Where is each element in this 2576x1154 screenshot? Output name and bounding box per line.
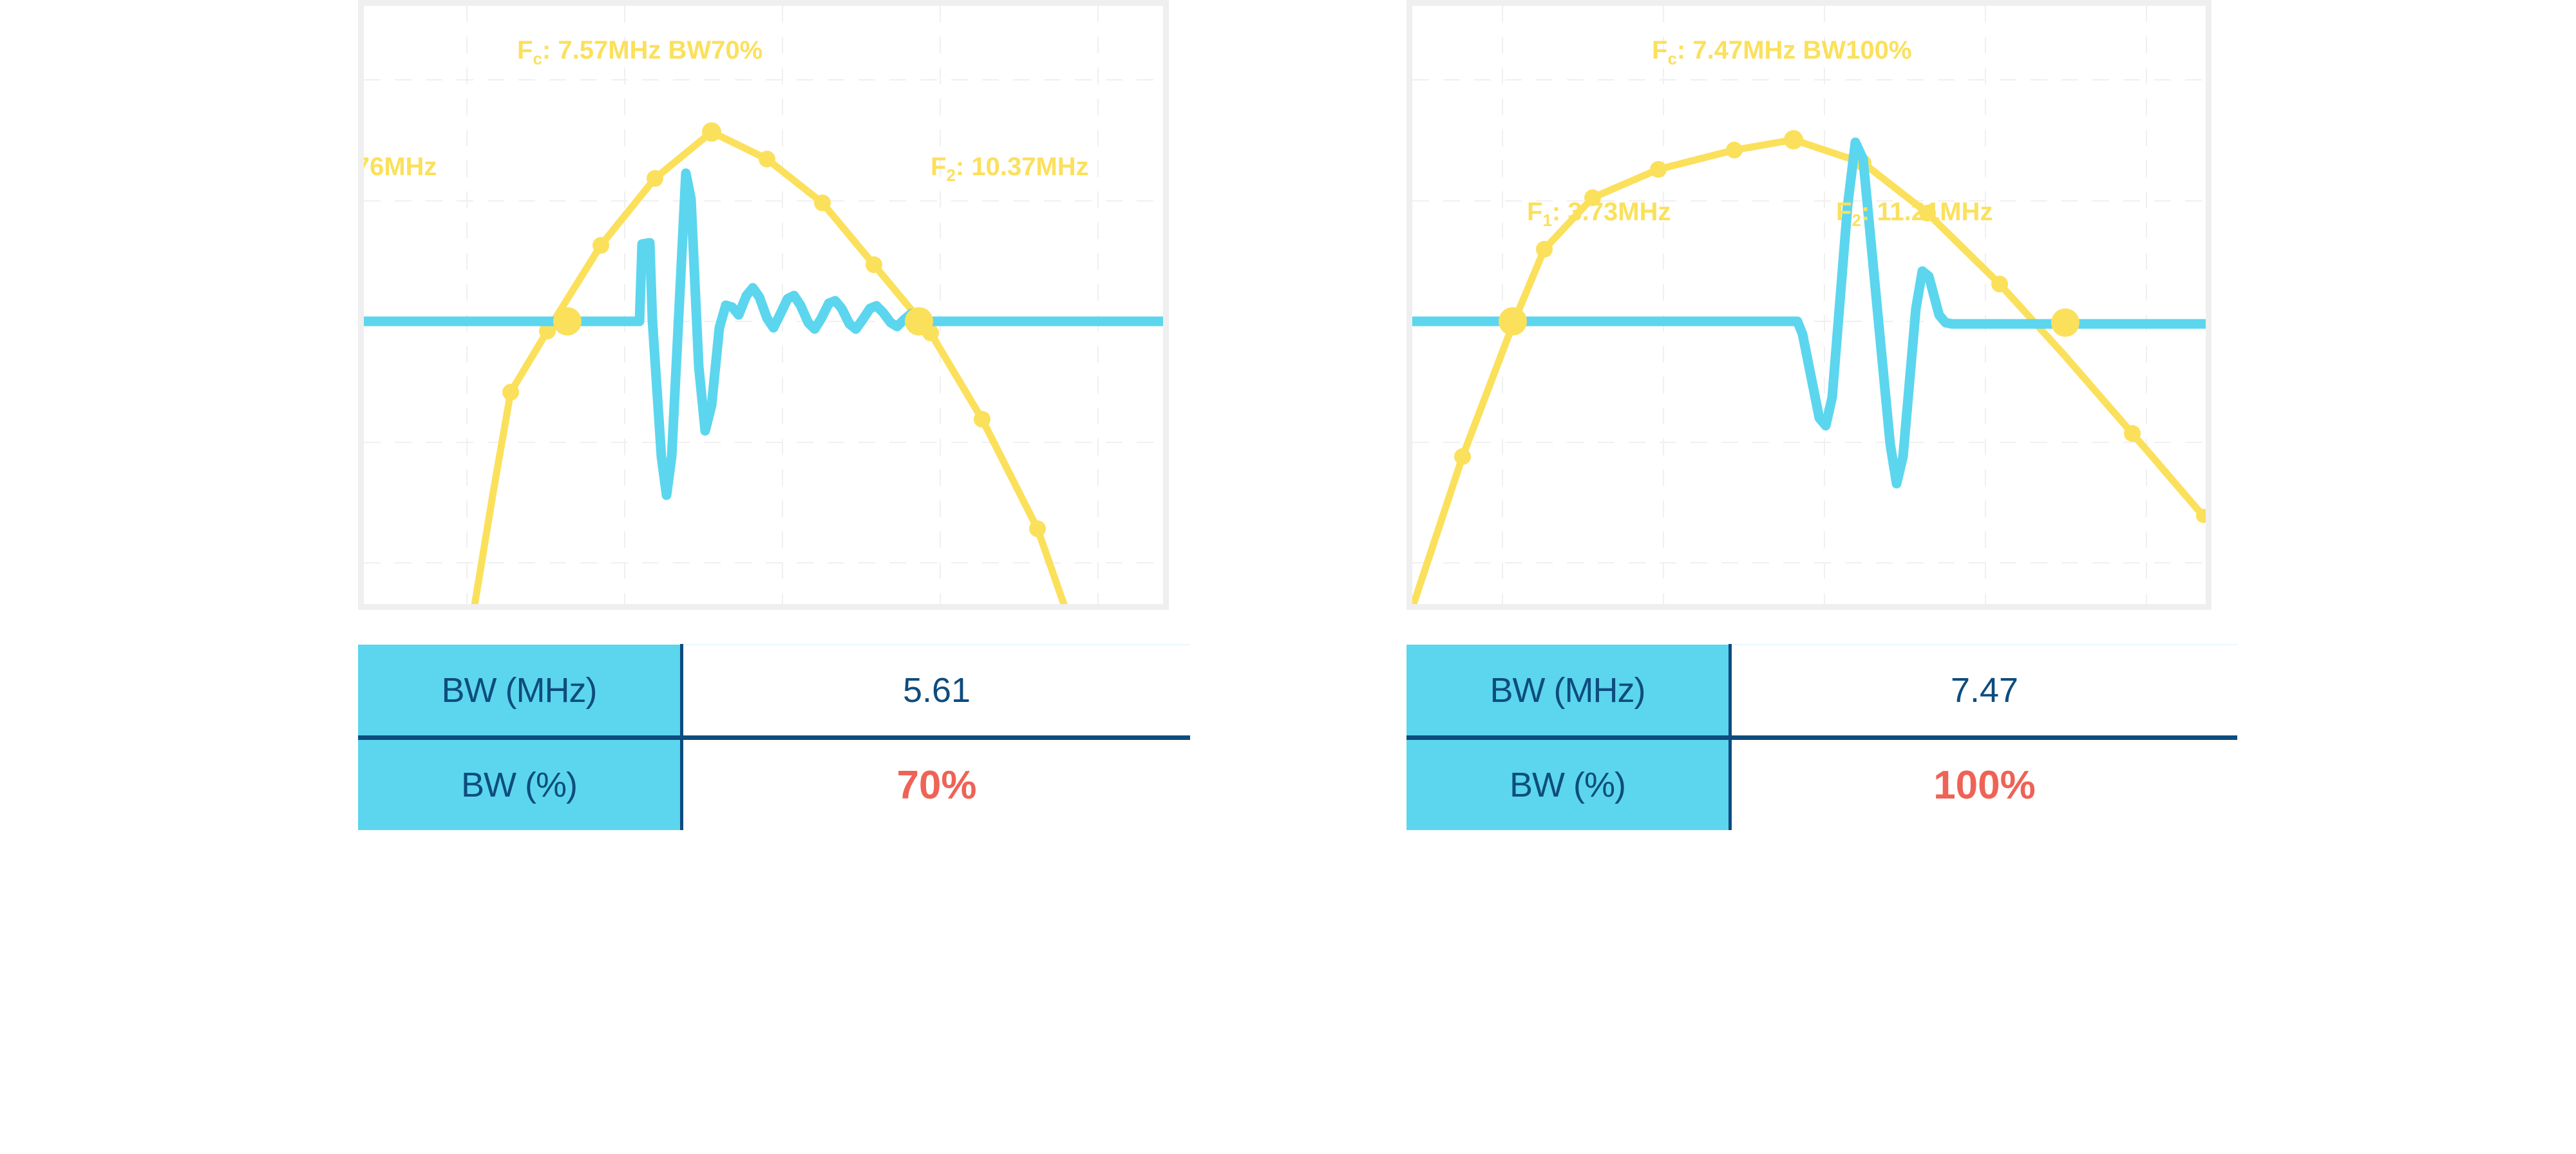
chart-frame-left: Fc: 7.57MHz BW70% F1: 4.76MHz F2: 10.37M… (358, 0, 1169, 610)
table-row: BW (%) 70% (358, 738, 1190, 831)
f1-value-text: : 4.76MHz (364, 153, 437, 181)
panel-left: Fc: 7.57MHz BW70% F1: 4.76MHz F2: 10.37M… (358, 0, 1169, 610)
f1-frequency-label-right: F1: 3.73MHz (1527, 198, 1671, 231)
f2-value-text: : 11.21MHz (1861, 198, 1993, 226)
bandwidth-table-right: BW (MHz) 7.47 BW (%) 100% (1406, 644, 2237, 830)
fc-symbol: Fc (1652, 36, 1677, 64)
bw-pct-label: BW (%) (1406, 738, 1730, 831)
f1-symbol: F1 (1527, 198, 1552, 226)
bw-pct-label: BW (%) (358, 738, 682, 831)
spectrum-curve-left (472, 132, 1070, 604)
f2-symbol: F2 (1836, 198, 1861, 226)
bw-mhz-label: BW (MHz) (358, 645, 682, 738)
center-frequency-label-left: Fc: 7.57MHz BW70% (517, 36, 762, 69)
fc-value-text: : 7.57MHz BW70% (542, 36, 762, 64)
f2-value-text: : 10.37MHz (956, 153, 1089, 181)
bw-mhz-value: 7.47 (1730, 645, 2238, 738)
chart-svg-right (1412, 6, 2206, 604)
f2-marker-dot (905, 307, 933, 336)
plot-area-right: Fc: 7.47MHz BW100% F1: 3.73MHz F2: 11.21… (1412, 6, 2206, 604)
table-row: BW (MHz) 7.47 (1406, 645, 2237, 738)
chart-frame-right: Fc: 7.47MHz BW100% F1: 3.73MHz F2: 11.21… (1406, 0, 2211, 610)
panel-right: Fc: 7.47MHz BW100% F1: 3.73MHz F2: 11.21… (1406, 0, 2211, 610)
pulse-waveform-right (1412, 142, 2206, 484)
plot-area-left: Fc: 7.57MHz BW70% F1: 4.76MHz F2: 10.37M… (364, 6, 1163, 604)
f1-marker-dot (1499, 307, 1527, 336)
f2-frequency-label-right: F2: 11.21MHz (1836, 198, 1993, 231)
bandwidth-table-left: BW (MHz) 5.61 BW (%) 70% (358, 644, 1190, 830)
f1-frequency-label-left: F1: 4.76MHz (364, 153, 437, 185)
f1-value-text: : 3.73MHz (1552, 198, 1671, 226)
bw-pct-value: 100% (1730, 738, 2238, 831)
fc-value-text: : 7.47MHz BW100% (1677, 36, 1912, 64)
bw-pct-value: 70% (682, 738, 1191, 831)
f2-marker-dot (2051, 308, 2079, 337)
bw-mhz-label: BW (MHz) (1406, 645, 1730, 738)
bw-mhz-value: 5.61 (682, 645, 1191, 738)
chart-svg-left (364, 6, 1163, 604)
table-row: BW (%) 100% (1406, 738, 2237, 831)
center-frequency-label-right: Fc: 7.47MHz BW100% (1652, 36, 1911, 69)
f2-symbol: F2 (931, 153, 956, 181)
fc-symbol: Fc (517, 36, 542, 64)
gridlines-right (1412, 6, 2206, 604)
f1-marker-dot (553, 307, 582, 336)
pulse-waveform-left (364, 173, 1163, 495)
f2-frequency-label-left: F2: 10.37MHz (931, 153, 1089, 185)
table-row: BW (MHz) 5.61 (358, 645, 1190, 738)
